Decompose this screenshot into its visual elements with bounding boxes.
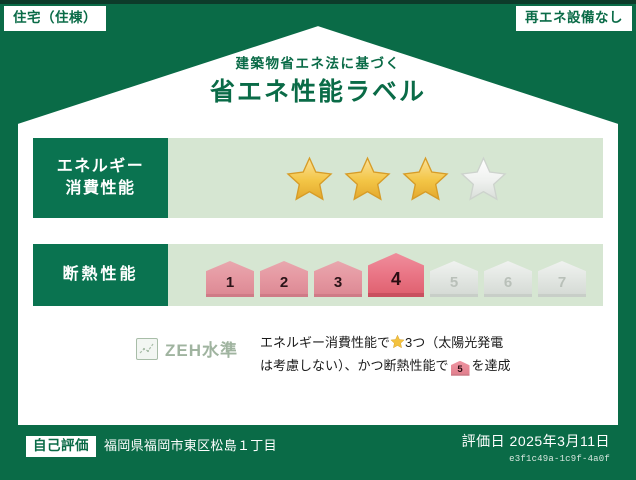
star-empty-icon: [459, 155, 508, 202]
insulation-grade-1: 1: [206, 261, 254, 297]
insulation-grade-2: 2: [260, 261, 308, 297]
insulation-performance-body: 1234567: [168, 244, 603, 306]
energy-performance-label: 住宅（住棟） 再エネ設備なし 建築物省エネ法に基づく 省エネ性能ラベル エネルギ…: [0, 0, 636, 480]
evaluation-date: 評価日 2025年3月11日: [462, 431, 610, 451]
insulation-grade-6: 6: [484, 261, 532, 297]
zeh-desc-line1-a: エネルギー消費性能で: [260, 335, 390, 350]
inline-grade-badge: 5: [451, 361, 470, 376]
insulation-grade-4-selected: 4: [368, 253, 424, 297]
footer-bar: 自己評価 福岡県福岡市東区松島１丁目 評価日 2025年3月11日 e3f1c4…: [0, 425, 636, 480]
building-type-tag: 住宅（住棟）: [4, 6, 106, 31]
zeh-desc-line1-b: 3つ（太陽光発電: [405, 335, 503, 350]
insulation-grade-3: 3: [314, 261, 362, 297]
star-filled-icon: [343, 155, 392, 202]
insulation-performance-section: 断熱性能 1234567: [33, 244, 603, 306]
renewable-equipment-tag: 再エネ設備なし: [516, 6, 632, 31]
top-strip: [0, 0, 636, 4]
zeh-chart-icon: [136, 338, 158, 360]
energy-performance-body: [168, 138, 603, 218]
zeh-description-line2: は考慮しない）、かつ断熱性能で5を達成: [260, 355, 511, 378]
energy-performance-section: エネルギー 消費性能: [33, 138, 603, 218]
star-filled-icon: [285, 155, 334, 202]
energy-label-line1: エネルギー: [57, 156, 145, 178]
footer-right: 評価日 2025年3月11日 e3f1c49a-1c9f-4a0f: [462, 431, 610, 464]
star-icon: [390, 334, 405, 349]
zeh-mark: ZEH水準: [136, 336, 238, 361]
title-block: 建築物省エネ法に基づく 省エネ性能ラベル: [0, 56, 636, 107]
footer-left: 自己評価 福岡県福岡市東区松島１丁目: [26, 435, 277, 457]
zeh-standard-row: ZEH水準 エネルギー消費性能で3つ（太陽光発電 は考慮しない）、かつ断熱性能で…: [33, 332, 603, 378]
insulation-grade-5: 5: [430, 261, 478, 297]
insulation-grade-scale: 1234567: [206, 253, 586, 297]
zeh-mark-label: ZEH水準: [165, 336, 238, 361]
zeh-desc-line2-b: を達成: [472, 358, 511, 373]
energy-label-line2: 消費性能: [65, 178, 135, 200]
title-subtitle: 建築物省エネ法に基づく: [0, 56, 636, 72]
insulation-label: 断熱性能: [62, 264, 138, 286]
energy-performance-label-box: エネルギー 消費性能: [33, 138, 168, 218]
zeh-description-line1: エネルギー消費性能で3つ（太陽光発電: [260, 332, 511, 355]
page-title: 省エネ性能ラベル: [0, 78, 636, 107]
zeh-desc-line2-a: は考慮しない）、かつ断熱性能で: [260, 358, 449, 373]
star-rating: [285, 155, 508, 202]
property-address: 福岡県福岡市東区松島１丁目: [104, 435, 277, 454]
zeh-description: エネルギー消費性能で3つ（太陽光発電 は考慮しない）、かつ断熱性能で5を達成: [260, 332, 511, 378]
self-evaluation-badge: 自己評価: [26, 436, 96, 457]
document-id: e3f1c49a-1c9f-4a0f: [462, 454, 610, 464]
insulation-performance-label-box: 断熱性能: [33, 244, 168, 306]
star-filled-icon: [401, 155, 450, 202]
insulation-grade-7: 7: [538, 261, 586, 297]
